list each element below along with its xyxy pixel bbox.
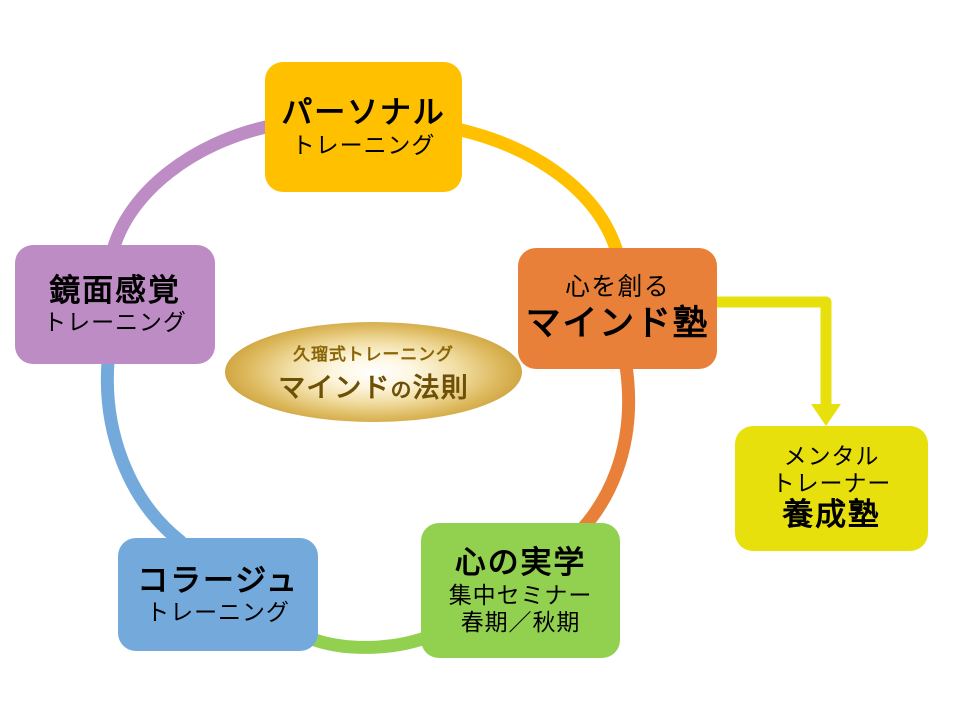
node-kokoro-no-jitsugaku-line-1: 心の実学: [455, 545, 586, 582]
arc-mirror-to-personal: [113, 127, 266, 250]
arrow-mind-to-mental-head: [811, 404, 841, 426]
center-badge: 久瑠式トレーニング マインドの法則: [225, 322, 522, 422]
node-kokoro-no-jitsugaku[interactable]: 心の実学 集中セミナー 春期／秋期: [421, 523, 620, 658]
node-mind-juku-line-2: マインド塾: [526, 303, 710, 344]
node-mind-juku[interactable]: 心を創る マインド塾: [518, 248, 717, 369]
node-collage-training-line-2: トレーニング: [146, 599, 290, 626]
node-mind-juku-line-1: 心を創る: [565, 273, 670, 303]
node-collage-training-line-1: コラージュ: [137, 563, 299, 600]
center-badge-title: マインドの法則: [278, 366, 469, 405]
node-kyomen-kankaku-training-line-2: トレーニング: [43, 309, 187, 336]
center-badge-subtitle: 久瑠式トレーニング: [293, 340, 454, 365]
node-collage-training[interactable]: コラージュ トレーニング: [118, 538, 318, 651]
node-mental-trainer-yoseijuku-line-2: トレーナー: [772, 470, 892, 497]
center-badge-title-b: 法則: [413, 373, 469, 403]
center-badge-title-particle: の: [391, 378, 413, 402]
node-personal-training[interactable]: パーソナル トレーニング: [265, 62, 462, 192]
arc-collage-to-mirror: [107, 362, 180, 541]
node-mental-trainer-yoseijuku-line-1: メンタル: [784, 443, 880, 470]
node-mental-trainer-yoseijuku-line-3: 養成塾: [782, 497, 881, 534]
node-personal-training-line-1: パーソナル: [281, 95, 445, 132]
arc-personal-to-mind: [461, 130, 617, 252]
node-mental-trainer-yoseijuku[interactable]: メンタル トレーナー 養成塾: [735, 426, 928, 551]
diagram-canvas: パーソナル トレーニング 心を創る マインド塾 心の実学 集中セミナー 春期／秋…: [0, 0, 960, 720]
node-kyomen-kankaku-training[interactable]: 鏡面感覚 トレーニング: [15, 245, 215, 364]
node-kyomen-kankaku-training-line-1: 鏡面感覚: [49, 273, 180, 310]
node-kokoro-no-jitsugaku-line-3: 春期／秋期: [461, 609, 581, 636]
center-badge-title-a: マインド: [278, 373, 390, 403]
arc-jitsugaku-to-collage: [312, 637, 428, 647]
node-kokoro-no-jitsugaku-line-2: 集中セミナー: [449, 582, 593, 609]
arrow-mind-to-mental-line: [716, 302, 826, 404]
node-personal-training-line-2: トレーニング: [292, 132, 436, 159]
